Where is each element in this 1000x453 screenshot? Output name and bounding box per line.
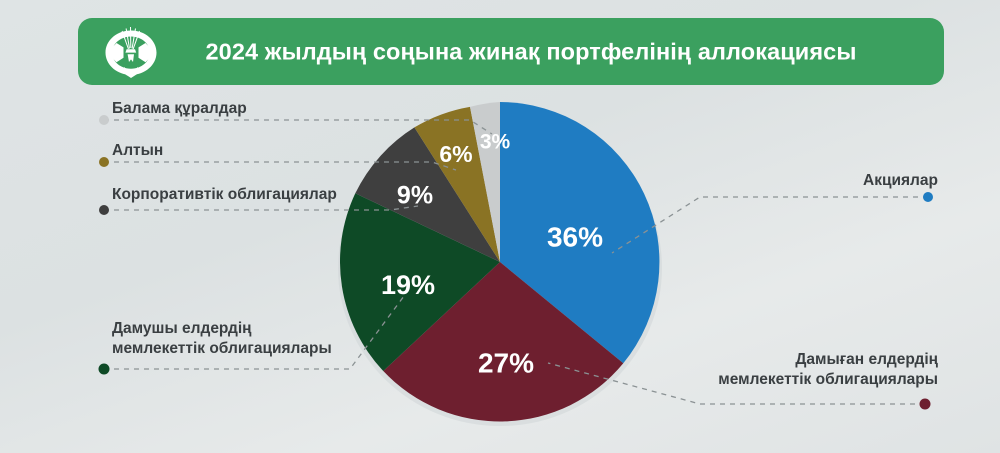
- slice-value-developed-bonds: 27%: [478, 347, 534, 378]
- slice-value-gold: 6%: [439, 141, 472, 167]
- leader-dot-developed[interactable]: [920, 399, 931, 410]
- leader-dot-gold[interactable]: [99, 157, 109, 167]
- leader-dot-alternatives[interactable]: [99, 115, 109, 125]
- callout-label-corporate-bonds: Корпоративтік облигациялар: [112, 185, 337, 205]
- infographic-canvas: 2024 жылдың соңына жинақ портфелінің алл…: [0, 0, 1000, 453]
- leader-dot-equities[interactable]: [923, 192, 933, 202]
- leader-dot-corporate[interactable]: [99, 205, 109, 215]
- leader-dot-emerging[interactable]: [99, 364, 110, 375]
- callout-label-emerging-sovereign-bonds: Дамушы елдердің мемлекеттік облигациялар…: [112, 319, 357, 359]
- callout-label-gold: Алтын: [112, 141, 163, 161]
- slice-value-emerging-bonds: 19%: [381, 270, 435, 300]
- callout-label-alternative-instruments: Балама құралдар: [112, 99, 247, 119]
- slice-value-alternatives: 3%: [480, 131, 511, 154]
- slice-value-corporate-bonds: 9%: [397, 182, 433, 210]
- callout-label-equities: Акциялар: [863, 171, 938, 191]
- callout-label-developed-sovereign-bonds: Дамыған елдердің мемлекеттік облигацияла…: [638, 350, 938, 390]
- slice-value-equities: 36%: [547, 221, 603, 252]
